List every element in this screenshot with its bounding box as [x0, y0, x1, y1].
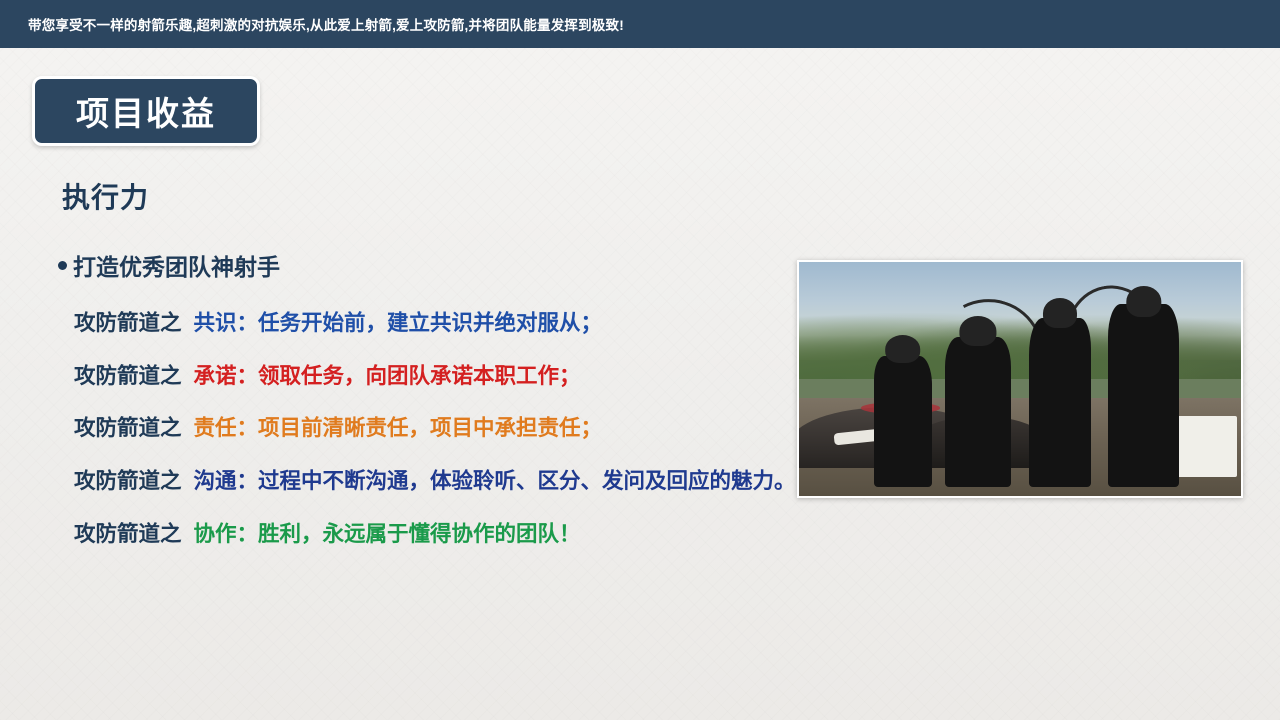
- top-banner: 带您享受不一样的射箭乐趣,超刺激的对抗娱乐,从此爱上射箭,爱上攻防箭,并将团队能…: [0, 0, 1280, 48]
- photo-player-4: [1108, 304, 1179, 487]
- photo-player-head: [1126, 286, 1161, 317]
- list-item-body: 共识：任务开始前，建立共识并绝对服从；: [194, 311, 603, 335]
- content-list: 攻防箭道之 共识：任务开始前，建立共识并绝对服从； 攻防箭道之 承诺：领取任务，…: [74, 312, 774, 575]
- photo-player-2: [945, 337, 1011, 487]
- photo-player-head: [959, 316, 996, 346]
- photo-player-head: [885, 335, 921, 364]
- list-item-prefix: 攻防箭道之: [74, 416, 182, 440]
- section-title-badge: 项目收益: [32, 76, 260, 146]
- list-item-body: 承诺：领取任务，向团队承诺本职工作；: [194, 364, 581, 388]
- list-item-prefix: 攻防箭道之: [74, 364, 182, 388]
- bullet-heading: 打造优秀团队神射手: [58, 248, 280, 282]
- photo-player-1: [874, 356, 931, 487]
- archery-photo: [797, 260, 1243, 498]
- list-item-body: 沟通：过程中不断沟通，体验聆听、区分、发问及回应的魅力。: [194, 469, 796, 493]
- list-item-prefix: 攻防箭道之: [74, 311, 182, 335]
- bullet-dot-icon: [58, 261, 67, 270]
- list-item-prefix: 攻防箭道之: [74, 469, 182, 493]
- list-item: 攻防箭道之 承诺：领取任务，向团队承诺本职工作；: [74, 365, 774, 389]
- section-title-text: 项目收益: [76, 87, 216, 135]
- list-item-prefix: 攻防箭道之: [74, 522, 182, 546]
- banner-text: 带您享受不一样的射箭乐趣,超刺激的对抗娱乐,从此爱上射箭,爱上攻防箭,并将团队能…: [0, 14, 624, 34]
- list-item: 攻防箭道之 共识：任务开始前，建立共识并绝对服从；: [74, 312, 774, 336]
- list-item-body: 协作：胜利，永远属于懂得协作的团队！: [194, 522, 581, 546]
- subtitle-text: 执行力: [62, 176, 149, 216]
- list-item: 攻防箭道之 协作：胜利，永远属于懂得协作的团队！: [74, 523, 774, 547]
- list-item: 攻防箭道之 责任：项目前清晰责任，项目中承担责任；: [74, 417, 774, 441]
- photo-player-head: [1043, 298, 1077, 328]
- list-item: 攻防箭道之 沟通：过程中不断沟通，体验聆听、区分、发问及回应的魅力。: [74, 470, 774, 494]
- photo-player-3: [1029, 318, 1091, 486]
- slide-canvas: 带您享受不一样的射箭乐趣,超刺激的对抗娱乐,从此爱上射箭,爱上攻防箭,并将团队能…: [0, 0, 1280, 720]
- list-item-body: 责任：项目前清晰责任，项目中承担责任；: [194, 416, 603, 440]
- bullet-heading-text: 打造优秀团队神射手: [73, 248, 280, 282]
